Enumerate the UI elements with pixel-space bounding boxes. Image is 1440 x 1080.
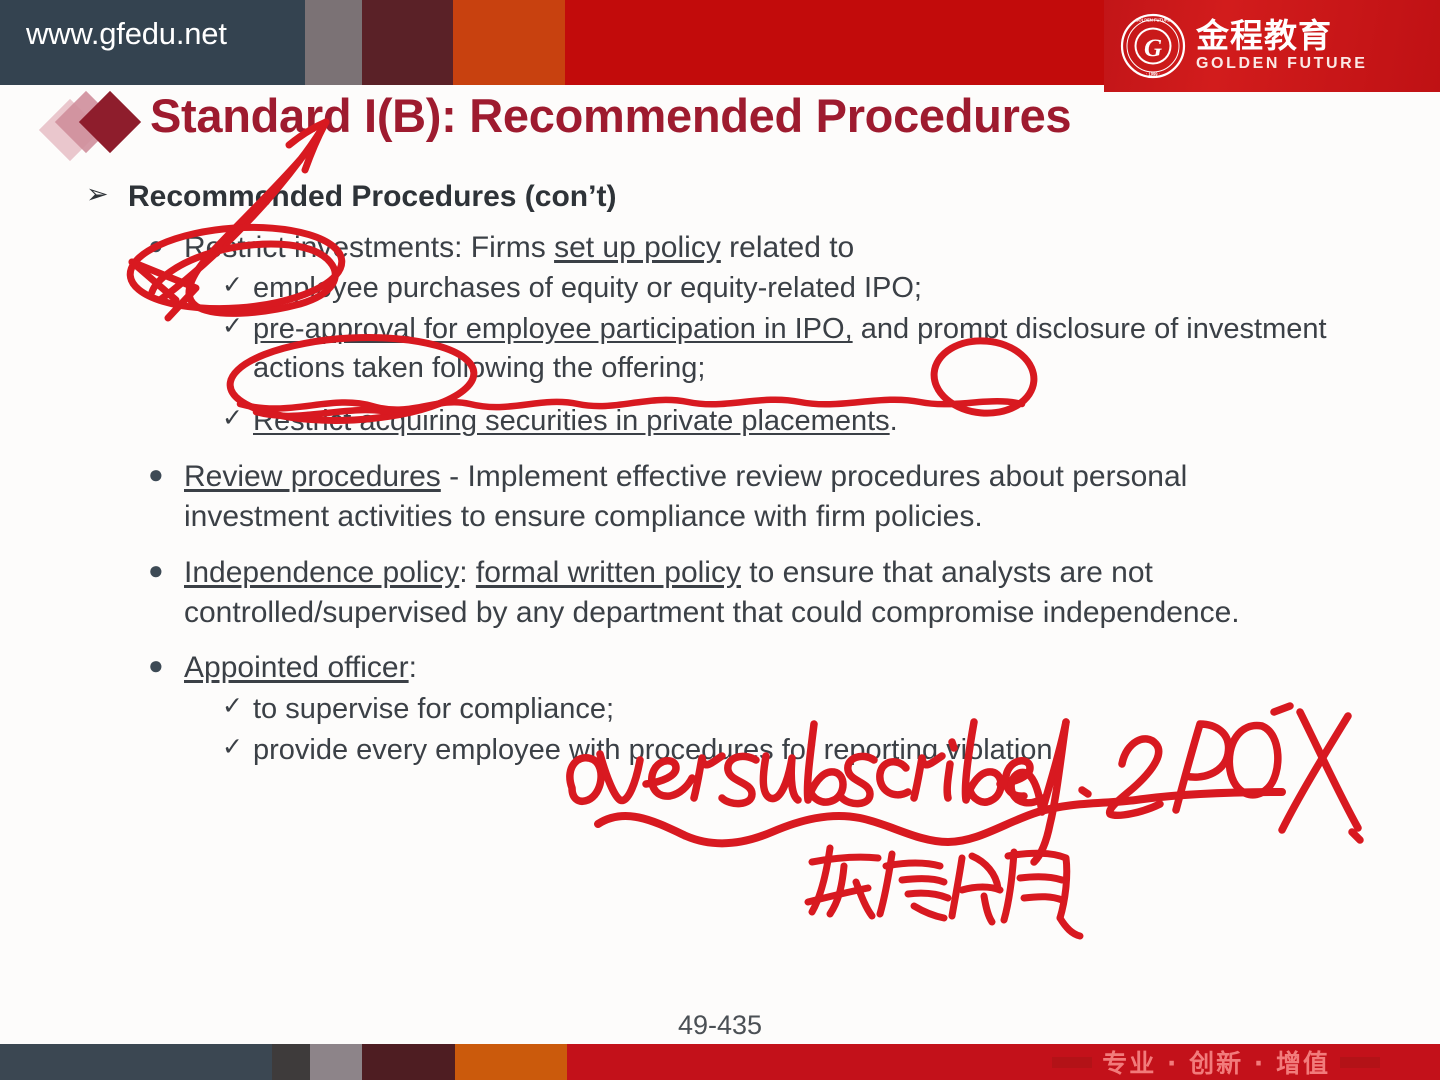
review-underlined: Review procedures xyxy=(184,460,441,493)
svg-text:· 1999 ·: · 1999 · xyxy=(1146,72,1160,77)
list-item: ✓ provide every employee with procedures… xyxy=(222,731,1400,770)
check-bullet-icon: ✓ xyxy=(222,310,253,344)
footer-band-dark xyxy=(272,1044,310,1080)
independence-mid: : xyxy=(459,556,476,589)
list-item: ✓ pre-approval for employee participatio… xyxy=(222,310,1400,388)
dot-bullet-icon: ● xyxy=(148,228,184,263)
golden-future-seal-icon: G GOLDEN FUTURE · 1999 · xyxy=(1120,13,1186,79)
sub-line-private-placements: Restrict acquiring securities in private… xyxy=(253,402,898,441)
dot-bullet-icon: ● xyxy=(148,457,184,492)
officer-underlined: Appointed officer xyxy=(184,651,409,684)
slogan-left-tick-icon xyxy=(1052,1057,1092,1068)
annotation-squiggle-handwriting xyxy=(598,792,1282,843)
dot-bullet-icon: ● xyxy=(148,648,184,683)
slide-canvas: www.gfedu.net G GOLDEN FUTURE · 1999 · 金… xyxy=(0,0,1440,1080)
officer-line: Appointed officer: xyxy=(184,648,417,688)
independence-underlined-1: Independence policy xyxy=(184,556,459,589)
sub-line-pre-approval: pre-approval for employee participation … xyxy=(253,310,1333,388)
site-url-label: www.gfedu.net xyxy=(26,16,227,52)
list-item-heading: ➢ Recommended Procedures (con’t) xyxy=(86,178,1400,216)
independence-underlined-2: formal written policy xyxy=(476,556,741,589)
officer-sub-provide: provide every employee with procedures f… xyxy=(253,731,1061,770)
review-line: Review procedures - Implement effective … xyxy=(184,457,1304,537)
list-item: ● Restrict investments: Firms set up pol… xyxy=(148,228,1400,268)
officer-trailing: : xyxy=(409,651,417,684)
heading-text: Recommended Procedures (con’t) xyxy=(128,178,616,216)
brand-name-english: GOLDEN FUTURE xyxy=(1196,55,1368,73)
list-item: ✓ to supervise for compliance; xyxy=(222,690,1400,729)
header-band-maroon xyxy=(362,0,453,85)
check-bullet-icon: ✓ xyxy=(222,402,253,436)
arrow-bullet-icon: ➢ xyxy=(86,178,128,212)
footer-band-slate xyxy=(0,1044,272,1080)
page-number-label: 49-435 xyxy=(0,1010,1440,1041)
annotation-handwriting-chinese xyxy=(808,848,1080,936)
officer-sub-supervise: to supervise for compliance; xyxy=(253,690,614,729)
block-appointed-officer: ● Appointed officer: ✓ to supervise for … xyxy=(86,648,1400,770)
check-bullet-icon: ✓ xyxy=(222,731,253,765)
brand-logo-panel: G GOLDEN FUTURE · 1999 · 金程教育 GOLDEN FUT… xyxy=(1104,0,1440,92)
restrict-line: Restrict investments: Firms set up polic… xyxy=(184,228,854,268)
brand-wordmark: 金程教育 GOLDEN FUTURE xyxy=(1196,19,1368,73)
block-independence-policy: ● Independence policy: formal written po… xyxy=(148,553,1400,633)
sub-line-equity: employee purchases of equity or equity-r… xyxy=(253,269,922,308)
diamond-decoration-icon xyxy=(46,96,156,156)
pre-approval-underlined: pre-approval for employee participation … xyxy=(253,313,853,345)
list-item: ✓ Restrict acquiring securities in priva… xyxy=(222,402,1400,441)
slogan-text: 专业 · 创新 · 增值 xyxy=(1102,1044,1330,1080)
restrict-plain-2: related to xyxy=(721,231,854,264)
block-review-procedures: ● Review procedures - Implement effectiv… xyxy=(148,457,1400,537)
slide-title-row: Standard I(B): Recommended Procedures xyxy=(0,88,1440,160)
footer-band-maroon xyxy=(362,1044,455,1080)
independence-line: Independence policy: formal written poli… xyxy=(184,553,1304,633)
footer-band-orange xyxy=(455,1044,567,1080)
page-title: Standard I(B): Recommended Procedures xyxy=(150,88,1071,143)
restrict-plain-1: Restrict investments: Firms xyxy=(184,231,554,264)
header-band-gray xyxy=(305,0,362,85)
slogan-right-tick-icon xyxy=(1340,1057,1380,1068)
list-item: ✓ employee purchases of equity or equity… xyxy=(222,269,1400,308)
footer-slogan: 专业 · 创新 · 增值 xyxy=(1052,1045,1380,1079)
block-restrict-investments: ● Restrict investments: Firms set up pol… xyxy=(86,228,1400,441)
private-placements-underlined: Restrict acquiring securities in private… xyxy=(253,405,890,437)
check-bullet-icon: ✓ xyxy=(222,690,253,724)
svg-text:GOLDEN FUTURE: GOLDEN FUTURE xyxy=(1135,18,1171,23)
brand-name-chinese: 金程教育 xyxy=(1196,19,1368,54)
check-bullet-icon: ✓ xyxy=(222,269,253,303)
svg-text:G: G xyxy=(1144,35,1162,62)
private-placements-trailing: . xyxy=(890,405,898,437)
footer-band-gray xyxy=(310,1044,362,1080)
dot-bullet-icon: ● xyxy=(148,553,184,588)
slide-body: ➢ Recommended Procedures (con’t) ● Restr… xyxy=(0,178,1440,772)
restrict-underlined: set up policy xyxy=(554,231,721,264)
header-band-orange xyxy=(453,0,565,85)
list-item: ● Appointed officer: xyxy=(148,648,1400,688)
